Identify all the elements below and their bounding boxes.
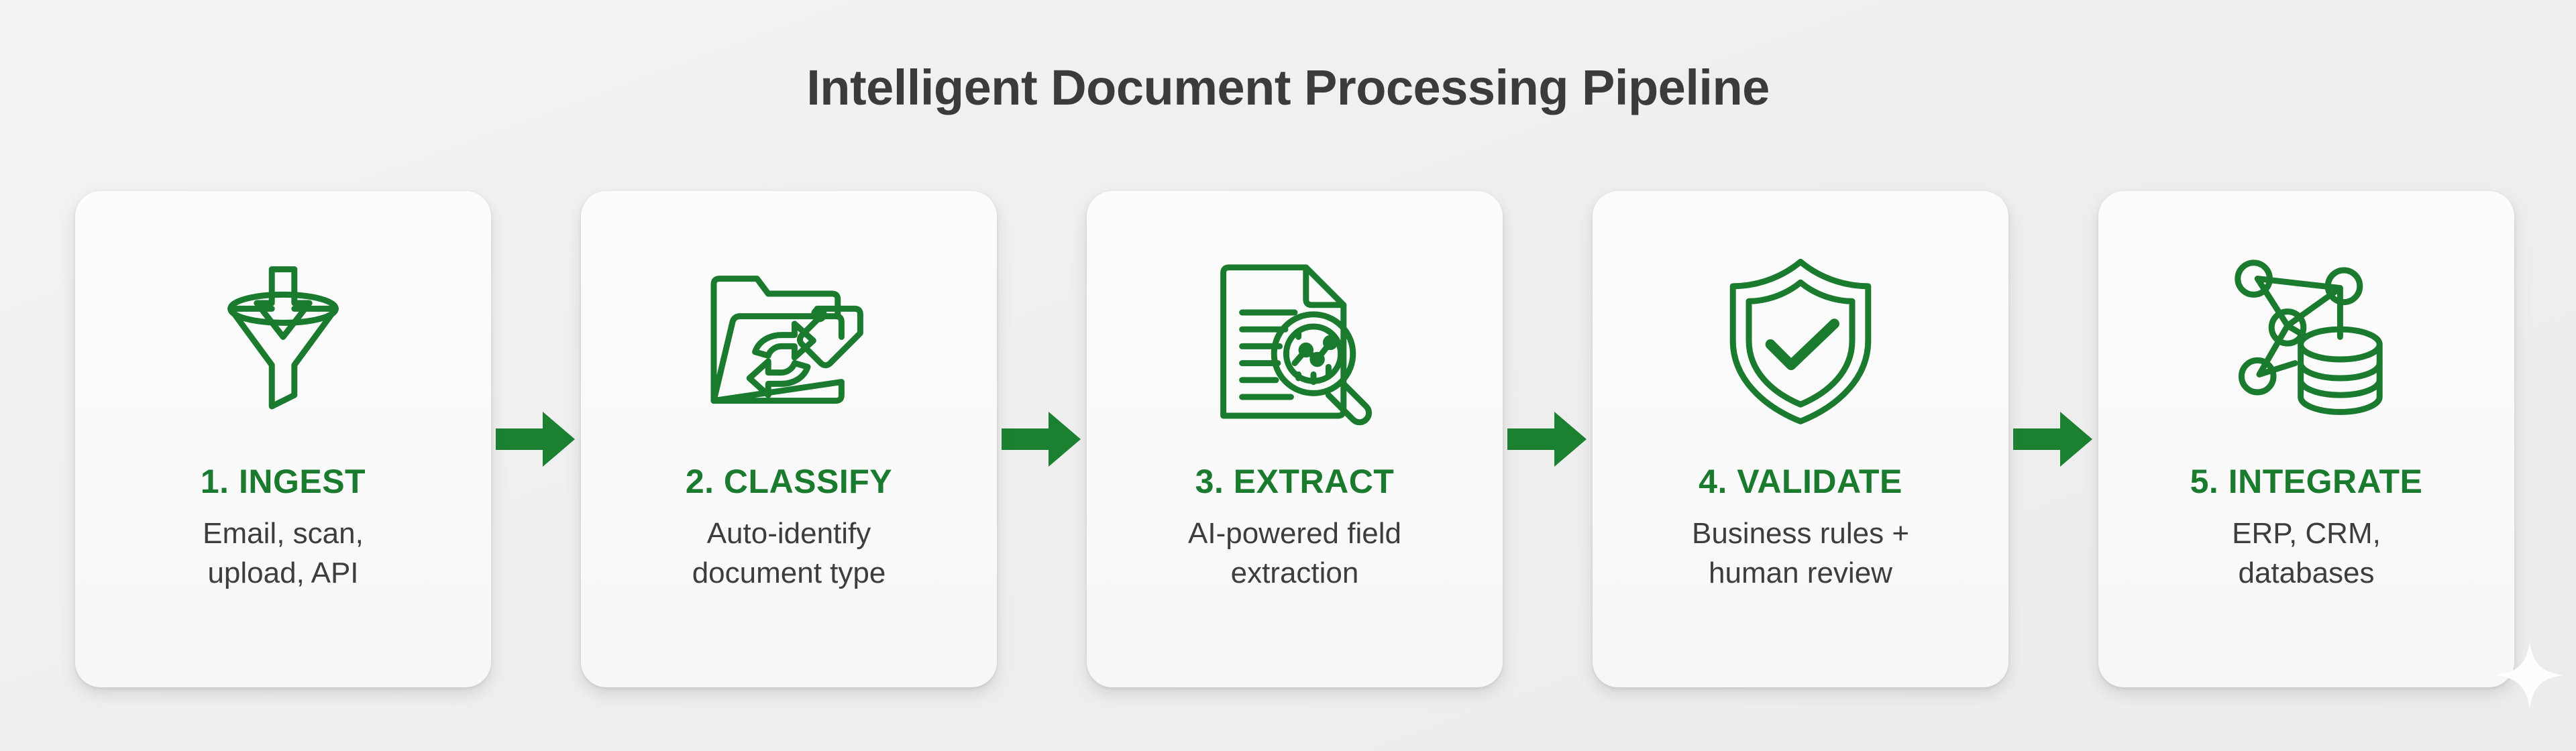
- infographic-canvas: Intelligent Document Processing Pipeline…: [0, 0, 2576, 751]
- step-card-integrate[interactable]: 5. INTEGRATE ERP, CRM, databases: [2098, 191, 2514, 687]
- step-description-line-1: Email, scan,: [95, 514, 471, 554]
- document-magnifier-icon: [1194, 243, 1395, 438]
- step-title: 4. VALIDATE: [1699, 462, 1902, 501]
- step-title: 3. EXTRACT: [1195, 462, 1395, 501]
- step-description-line-2: document type: [601, 554, 977, 593]
- network-database-icon: [2206, 243, 2407, 438]
- folder-exchange-tag-icon: [688, 243, 890, 438]
- step-description-line-1: Business rules +: [1613, 514, 1988, 554]
- connector-arrow-3: [1503, 191, 1593, 687]
- arrow-right-icon: [1002, 406, 1082, 472]
- step-card-extract[interactable]: 3. EXTRACT AI-powered field extraction: [1087, 191, 1503, 687]
- step-title: 2. CLASSIFY: [686, 462, 892, 501]
- arrow-right-icon: [496, 406, 576, 472]
- page-title: Intelligent Document Processing Pipeline: [0, 59, 2576, 116]
- pipeline-steps-row: 1. INGEST Email, scan, upload, API: [75, 191, 2501, 691]
- connector-arrow-4: [2008, 191, 2098, 687]
- step-description-line-1: AI-powered field: [1107, 514, 1483, 554]
- step-description: ERP, CRM, databases: [2118, 514, 2494, 593]
- step-description-line-2: databases: [2118, 554, 2494, 593]
- shield-check-icon: [1700, 243, 1901, 438]
- step-title: 5. INTEGRATE: [2190, 462, 2423, 501]
- step-description: Email, scan, upload, API: [95, 514, 471, 593]
- step-description-line-2: extraction: [1107, 554, 1483, 593]
- step-description: Auto-identify document type: [601, 514, 977, 593]
- step-title: 1. INGEST: [201, 462, 366, 501]
- step-description: Business rules + human review: [1613, 514, 1988, 593]
- step-description-line-1: Auto-identify: [601, 514, 977, 554]
- funnel-ingest-icon: [182, 243, 384, 438]
- step-description-line-1: ERP, CRM,: [2118, 514, 2494, 554]
- connector-arrow-2: [997, 191, 1087, 687]
- step-description-line-2: human review: [1613, 554, 1988, 593]
- arrow-right-icon: [2013, 406, 2094, 472]
- step-description-line-2: upload, API: [95, 554, 471, 593]
- connector-arrow-1: [491, 191, 581, 687]
- arrow-right-icon: [1507, 406, 1588, 472]
- step-card-classify[interactable]: 2. CLASSIFY Auto-identify document type: [581, 191, 997, 687]
- step-card-ingest[interactable]: 1. INGEST Email, scan, upload, API: [75, 191, 491, 687]
- step-description: AI-powered field extraction: [1107, 514, 1483, 593]
- step-card-validate[interactable]: 4. VALIDATE Business rules + human revie…: [1593, 191, 2008, 687]
